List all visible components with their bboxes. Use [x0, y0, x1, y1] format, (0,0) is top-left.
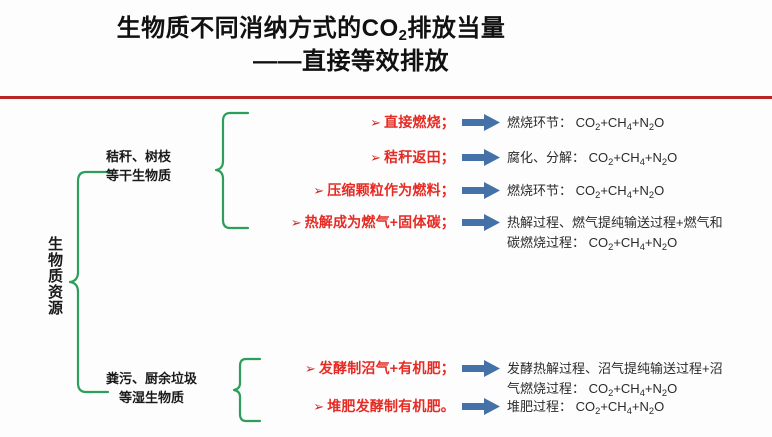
- result-text: 燃烧环节： CO2+CH4+N2O: [503, 112, 772, 133]
- category-dry-line-1: 秸秆、树枝: [106, 148, 171, 167]
- sub-n2: 2: [649, 406, 654, 416]
- post-o: O: [654, 115, 664, 130]
- root-node-biomass-resource: 生物质资源: [38, 236, 62, 316]
- process-row: ➢压缩颗粒作为燃料； 燃烧环节： CO2+CH4+N2O: [250, 180, 772, 201]
- mid-n: +N: [632, 183, 649, 198]
- process-label: ➢压缩颗粒作为燃料；: [250, 180, 459, 200]
- post-o: O: [654, 399, 664, 414]
- mid-ch: +CH: [600, 399, 626, 414]
- process-row: ➢堆肥发酵制有机肥。 堆肥过程： CO2+CH4+N2O: [250, 396, 772, 417]
- sub-co2: 2: [595, 190, 600, 200]
- bullet-arrow-icon: ➢: [370, 150, 381, 166]
- process-label: ➢直接燃烧；: [250, 112, 459, 132]
- sub-n2: 2: [662, 157, 667, 167]
- result-prefix: 气燃烧过程： CO: [507, 381, 608, 396]
- mid-n: +N: [632, 399, 649, 414]
- bullet-arrow-icon: ➢: [305, 361, 316, 377]
- sub-n2: 2: [649, 190, 654, 200]
- result-lead-line: 发酵热解过程、沼气提纯输送过程+沼: [507, 359, 772, 379]
- result-formula-line: 燃烧环节： CO2+CH4+N2O: [507, 113, 772, 133]
- post-o: O: [667, 381, 677, 396]
- post-o: O: [654, 183, 664, 198]
- category-label-wet-biomass: 粪污、厨余垃圾 等湿生物质: [106, 370, 197, 408]
- sub-co2: 2: [595, 122, 600, 132]
- sub-ch4: 4: [640, 242, 645, 252]
- process-text: 直接燃烧；: [384, 114, 455, 130]
- category-wet-line-1: 粪污、厨余垃圾: [106, 370, 197, 389]
- category-wet-line-2: 等湿生物质: [106, 389, 197, 408]
- title-line-1-post: 排放当量: [407, 15, 505, 42]
- title-line-1-pre: 生物质不同消纳方式的CO: [117, 15, 399, 42]
- result-formula-line: 碳燃烧过程： CO2+CH4+N2O: [507, 233, 772, 253]
- slide-canvas: 生物质不同消纳方式的CO2排放当量 ——直接等效排放 生物质资源 秸秆、树枝 等…: [0, 0, 772, 437]
- right-arrow-icon: [459, 147, 503, 166]
- result-prefix: 腐化、分解： CO: [507, 150, 608, 165]
- title-divider-rule: [0, 96, 772, 99]
- sub-ch4: 4: [627, 190, 632, 200]
- result-formula-line: 堆肥过程： CO2+CH4+N2O: [507, 397, 772, 417]
- mid-n: +N: [632, 115, 649, 130]
- brace-dry-biomass-split: [214, 110, 250, 232]
- process-label: ➢堆肥发酵制有机肥。: [250, 396, 459, 416]
- sub-co2: 2: [608, 157, 613, 167]
- right-arrow-icon: [459, 212, 503, 231]
- bullet-arrow-icon: ➢: [291, 215, 302, 231]
- mid-n: +N: [645, 150, 662, 165]
- mid-ch: +CH: [613, 150, 639, 165]
- mid-ch: +CH: [613, 235, 639, 250]
- process-text: 堆肥发酵制有机肥。: [327, 398, 455, 414]
- mid-n: +N: [645, 381, 662, 396]
- result-text: 燃烧环节： CO2+CH4+N2O: [503, 180, 772, 201]
- title-line-1: 生物质不同消纳方式的CO2排放当量: [0, 14, 772, 44]
- result-text: 热解过程、燃气提纯输送过程+燃气和 碳燃烧过程： CO2+CH4+N2O: [503, 212, 772, 252]
- sub-co2: 2: [608, 242, 613, 252]
- sub-ch4: 4: [627, 122, 632, 132]
- process-text: 秸秆返田；: [384, 149, 455, 165]
- process-text: 热解成为燃气+固体碳；: [305, 214, 455, 230]
- title-line-2: ——直接等效排放: [0, 46, 772, 77]
- result-text: 腐化、分解： CO2+CH4+N2O: [503, 147, 772, 168]
- result-text: 发酵热解过程、沼气提纯输送过程+沼 气燃烧过程： CO2+CH4+N2O: [503, 358, 772, 398]
- result-lead-line: 热解过程、燃气提纯输送过程+燃气和: [507, 213, 772, 233]
- mid-ch: +CH: [600, 183, 626, 198]
- result-prefix: 碳燃烧过程： CO: [507, 235, 608, 250]
- process-text: 压缩颗粒作为燃料；: [327, 182, 455, 198]
- title-subscript-2: 2: [399, 28, 408, 44]
- mid-ch: +CH: [600, 115, 626, 130]
- process-label: ➢热解成为燃气+固体碳；: [250, 212, 459, 232]
- process-text: 发酵制沼气+有机肥；: [319, 360, 455, 376]
- mid-n: +N: [645, 235, 662, 250]
- process-row: ➢直接燃烧； 燃烧环节： CO2+CH4+N2O: [250, 112, 772, 133]
- right-arrow-icon: [459, 180, 503, 199]
- process-row: ➢秸秆返田； 腐化、分解： CO2+CH4+N2O: [250, 147, 772, 168]
- process-label: ➢秸秆返田；: [250, 147, 459, 167]
- page-title: 生物质不同消纳方式的CO2排放当量 ——直接等效排放: [0, 14, 772, 77]
- bullet-arrow-icon: ➢: [313, 183, 324, 199]
- right-arrow-icon: [459, 396, 503, 415]
- result-prefix: 堆肥过程： CO: [507, 399, 595, 414]
- post-o: O: [667, 150, 677, 165]
- sub-ch4: 4: [640, 157, 645, 167]
- post-o: O: [667, 235, 677, 250]
- process-label: ➢发酵制沼气+有机肥；: [250, 358, 459, 378]
- sub-co2: 2: [595, 406, 600, 416]
- category-label-dry-biomass: 秸秆、树枝 等干生物质: [106, 148, 171, 186]
- process-row: ➢热解成为燃气+固体碳； 热解过程、燃气提纯输送过程+燃气和 碳燃烧过程： CO…: [250, 212, 772, 252]
- right-arrow-icon: [459, 112, 503, 131]
- result-prefix: 燃烧环节： CO: [507, 183, 595, 198]
- result-prefix: 燃烧环节： CO: [507, 115, 595, 130]
- bullet-arrow-icon: ➢: [370, 115, 381, 131]
- result-formula-line: 腐化、分解： CO2+CH4+N2O: [507, 148, 772, 168]
- sub-n2: 2: [662, 242, 667, 252]
- right-arrow-icon: [459, 358, 503, 377]
- bullet-arrow-icon: ➢: [313, 399, 324, 415]
- result-formula-line: 燃烧环节： CO2+CH4+N2O: [507, 181, 772, 201]
- result-text: 堆肥过程： CO2+CH4+N2O: [503, 396, 772, 417]
- process-row: ➢发酵制沼气+有机肥； 发酵热解过程、沼气提纯输送过程+沼 气燃烧过程： CO2…: [250, 358, 772, 398]
- brace-root-split: [66, 168, 110, 396]
- mid-ch: +CH: [613, 381, 639, 396]
- sub-n2: 2: [649, 122, 654, 132]
- sub-ch4: 4: [627, 406, 632, 416]
- category-dry-line-2: 等干生物质: [106, 167, 171, 186]
